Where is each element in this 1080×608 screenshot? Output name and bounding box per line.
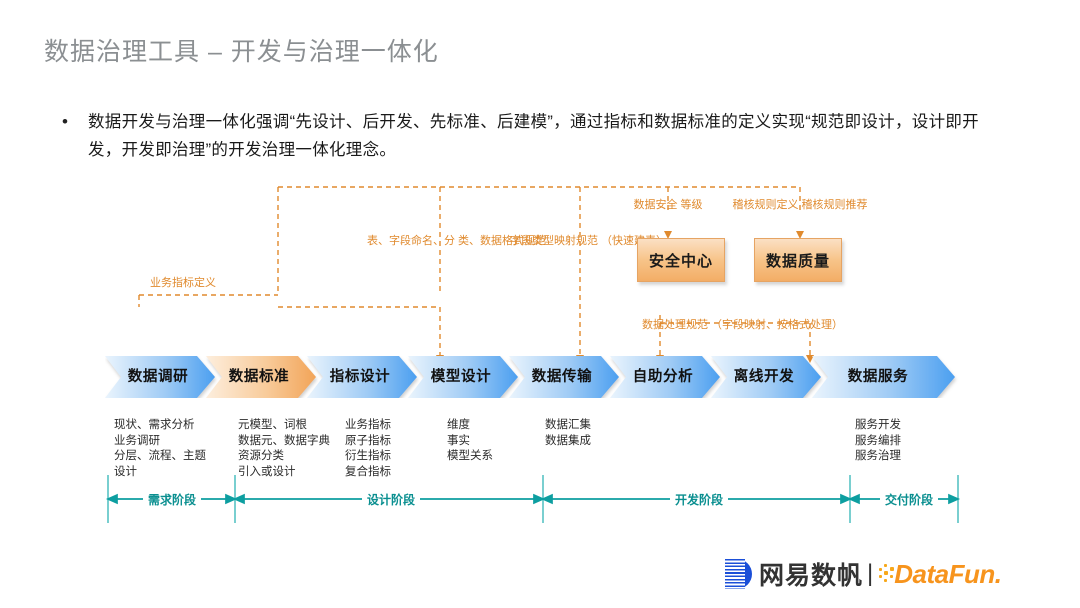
bullet-paragraph: • 数据开发与治理一体化强调“先设计、后开发、先标准、后建模”，通过指标和数据标…: [62, 108, 992, 164]
annotation-audit-rule-def: 稽核规则定义 稽核规则推荐: [712, 198, 888, 213]
bullet-marker: •: [62, 108, 88, 164]
stage-chevron-band: [105, 356, 965, 398]
netease-logo-text: 网易数帆: [759, 556, 863, 592]
phase-label-delivery: 交付阶段: [880, 491, 938, 508]
annotation-field-type-mapping: 字段类型映射规范 （快速建表）: [510, 234, 650, 249]
logo-divider: |: [867, 560, 873, 588]
annotation-data-process-spec: 数据处理规范 （字段映射、按格式处理）: [642, 318, 828, 333]
annotation-table-field-naming: 表、字段命名、分 类、数据格式规范: [367, 234, 507, 249]
page-title: 数据治理工具 – 开发与治理一体化: [44, 32, 439, 68]
stage-details-data-transport: 数据汇集 数据集成: [545, 418, 645, 449]
datafun-logo-text: DataFun.: [894, 559, 1001, 590]
chevron-shapes: [105, 356, 965, 398]
datafun-dots-icon: [879, 563, 896, 585]
slide-canvas: 数据治理工具 – 开发与治理一体化 • 数据开发与治理一体化强调“先设计、后开发…: [0, 0, 1080, 608]
phase-label-development: 开发阶段: [670, 491, 728, 508]
phase-label-design: 设计阶段: [362, 491, 420, 508]
stage-details-data-research: 现状、需求分析 业务调研 分层、流程、主题 设计: [114, 418, 234, 480]
module-box-security-center[interactable]: 安全中心: [637, 238, 725, 282]
module-box-data-quality[interactable]: 数据质量: [754, 238, 842, 282]
annotation-business-metric-def: 业务指标定义: [150, 276, 216, 291]
footer-logos: 网易数帆 | DataFun.: [725, 552, 1055, 596]
phase-label-requirement: 需求阶段: [143, 491, 201, 508]
bullet-body-text: 数据开发与治理一体化强调“先设计、后开发、先标准、后建模”，通过指标和数据标准的…: [88, 108, 992, 164]
netease-logo-icon: [725, 559, 752, 589]
governance-flow-diagram: 业务指标定义 表、字段命名、分 类、数据格式规范 字段类型映射规范 （快速建表）…: [0, 175, 1080, 535]
annotation-data-security-level: 数据安全 等级: [624, 198, 712, 213]
stage-details-data-service: 服务开发 服务编排 服务治理: [855, 418, 955, 465]
stage-details-metric-design: 业务指标 原子指标 衍生指标 复合指标: [345, 418, 445, 480]
stage-details-model-design: 维度 事实 模型关系: [447, 418, 547, 465]
